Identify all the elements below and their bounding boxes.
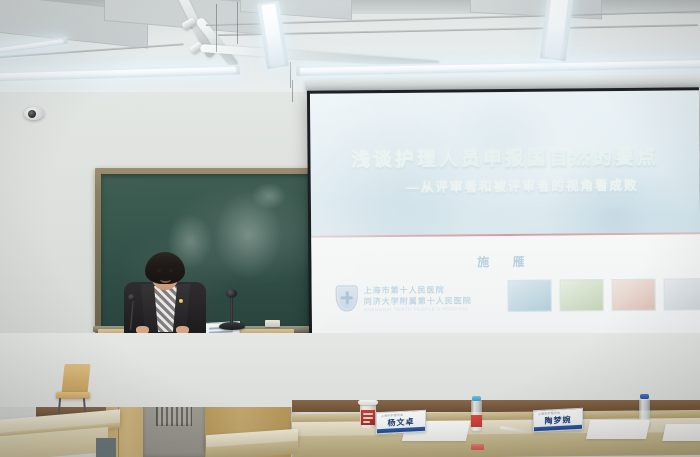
note-paper[interactable] — [662, 424, 700, 441]
table-microphone-stem — [230, 295, 233, 324]
red-eraser[interactable] — [471, 444, 484, 450]
slide-lower-panel: 施 雁 上海市第十人民医院 同济大学附属第十人民医院 SHANGHAI TENT… — [311, 234, 700, 337]
org-name-line-1: 上海市第十人民医院 — [364, 285, 445, 297]
hanging-wire — [290, 62, 291, 88]
bottle-cap — [640, 394, 649, 399]
chair-back[interactable] — [61, 364, 90, 394]
lower-wall — [0, 333, 700, 407]
logo-cross-icon — [345, 291, 348, 304]
hanging-wire — [292, 80, 293, 102]
hospital-shield-logo — [336, 285, 358, 311]
coffee-cup-lid — [358, 400, 378, 405]
table-shadow-gap — [96, 438, 116, 457]
coffee-cup-label-mark — [363, 421, 370, 423]
bottle-cap — [472, 396, 481, 401]
table-microphone-head — [226, 289, 237, 298]
slide-thumbnail — [560, 279, 604, 311]
slide-subtitle: —从评审者和被评审者的视角看成败 — [311, 174, 700, 196]
slide-thumbnail — [612, 279, 656, 311]
presenter-eye — [157, 269, 161, 272]
slide-thumbnail — [508, 280, 552, 312]
presenter-smile — [160, 276, 171, 283]
note-paper[interactable] — [586, 420, 650, 439]
presenter-hair-fringe — [149, 256, 181, 268]
coffee-cup-label-mark — [363, 417, 373, 419]
lecture-hall-photo: 浅谈护理人员申报国自然的要点 —从评审者和被评审者的视角看成败 施 雁 上海市第… — [0, 0, 700, 457]
slide-title: 浅谈护理人员申报国自然的要点 — [310, 142, 699, 172]
bottle-label — [471, 415, 482, 427]
slide-surface: 浅谈护理人员申报国自然的要点 —从评审者和被评审者的视角看成败 施 雁 上海市第… — [310, 90, 700, 337]
camera-lens-icon — [28, 110, 36, 118]
nameplate: 上海市护理学会 杨文卓 — [376, 410, 426, 435]
board-eraser — [265, 320, 280, 327]
org-name-line-3: SHANGHAI TENTH PEOPLE'S HOSPITAL — [364, 306, 469, 312]
hanging-wire — [216, 4, 217, 52]
presenter-lapel-pin — [179, 299, 183, 303]
podium-microphone-head — [128, 294, 135, 301]
nameplate: 上海市护理学会 陶梦婉 — [533, 408, 583, 433]
slide-presenter-name: 施 雁 — [311, 251, 700, 271]
slide-thumbnail — [664, 278, 700, 310]
hanging-wire — [237, 2, 238, 44]
presenter-eye — [169, 269, 173, 272]
coffee-cup-label-mark — [363, 413, 373, 415]
